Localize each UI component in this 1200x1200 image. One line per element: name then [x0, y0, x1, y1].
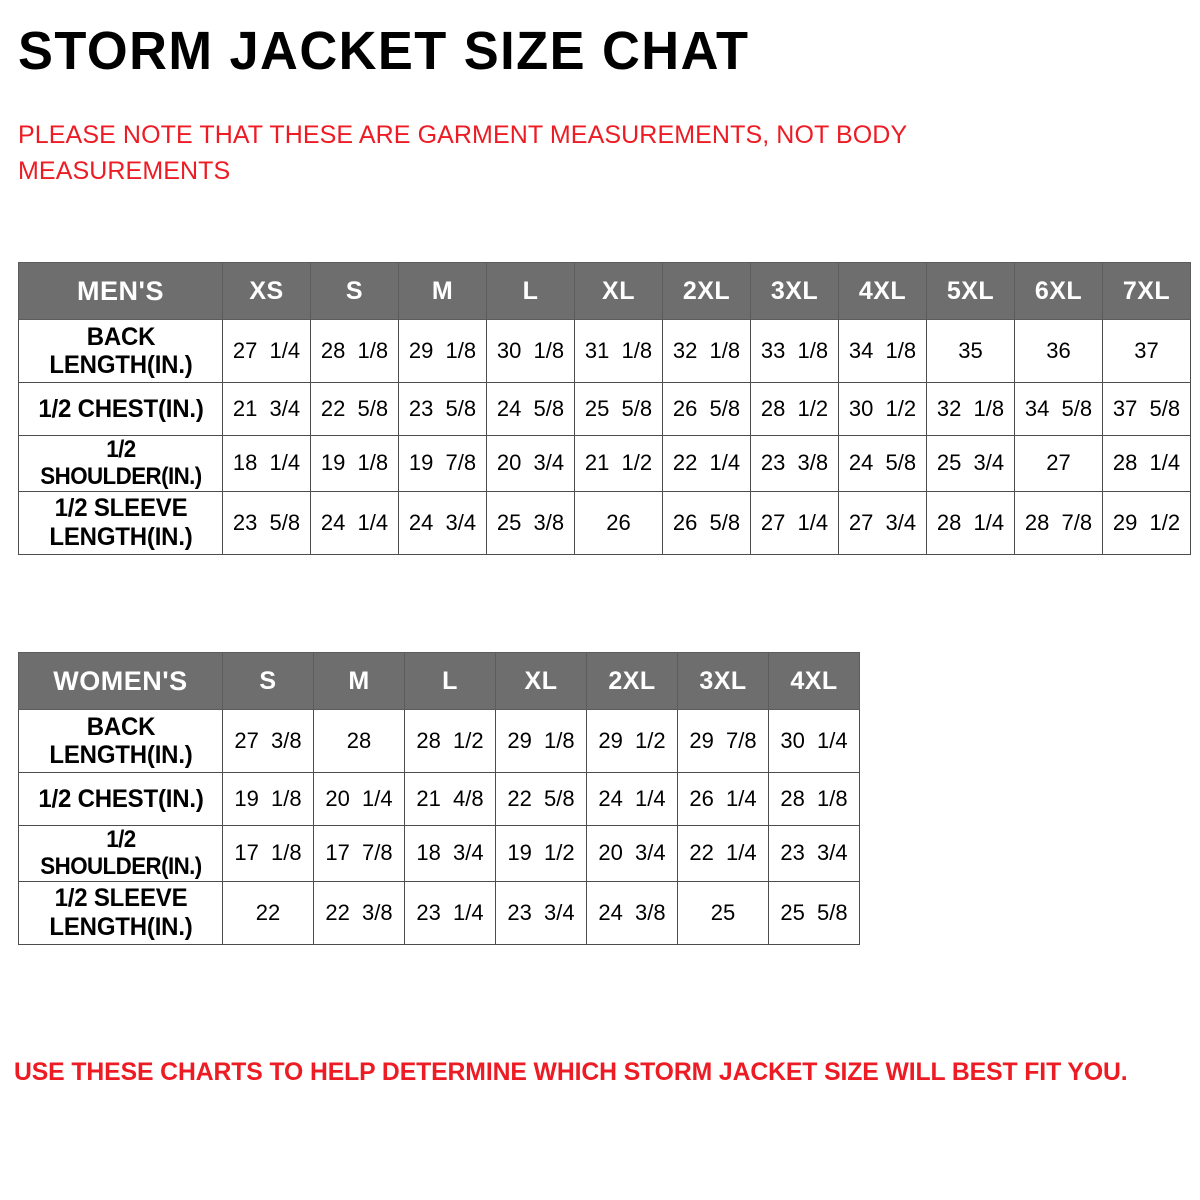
measurement-cell: 28 — [314, 710, 405, 773]
measurement-cell: 22 5/8 — [311, 383, 399, 436]
measurement-cell: 18 1/4 — [223, 436, 311, 492]
measurement-cell: 23 3/4 — [496, 881, 587, 944]
row-label: 1/2 CHEST(IN.) — [23, 383, 219, 436]
measurement-cell: 34 5/8 — [1015, 383, 1103, 436]
table-row: BACKLENGTH(IN.)27 1/428 1/829 1/830 1/83… — [19, 320, 1191, 383]
measurement-cell: 17 1/8 — [223, 826, 314, 882]
mens-table-header: MEN'SXSSMLXL2XL3XL4XL5XL6XL7XL — [19, 263, 1191, 320]
measurement-cell: 32 1/8 — [663, 320, 751, 383]
table-row: 1/2 SHOULDER(IN.)18 1/419 1/819 7/820 3/… — [19, 436, 1191, 492]
mens-size-header-3xl: 3XL — [751, 263, 839, 320]
mens-table-body: BACKLENGTH(IN.)27 1/428 1/829 1/830 1/83… — [19, 320, 1191, 555]
measurement-cell: 27 3/4 — [839, 491, 927, 554]
measurement-cell: 26 5/8 — [663, 383, 751, 436]
womens-header-row: WOMEN'SSMLXL2XL3XL4XL — [19, 653, 860, 710]
womens-size-header-2xl: 2XL — [587, 653, 678, 710]
measurement-cell: 27 3/8 — [223, 710, 314, 773]
measurement-cell: 30 1/2 — [839, 383, 927, 436]
table-row: 1/2 SHOULDER(IN.)17 1/817 7/818 3/419 1/… — [19, 826, 860, 882]
row-label: 1/2 SLEEVELENGTH(IN.) — [23, 491, 219, 554]
measurement-cell: 31 1/8 — [575, 320, 663, 383]
table-row: 1/2 CHEST(IN.)21 3/422 5/823 5/824 5/825… — [19, 383, 1191, 436]
mens-header-row: MEN'SXSSMLXL2XL3XL4XL5XL6XL7XL — [19, 263, 1191, 320]
mens-size-header-xs: XS — [223, 263, 311, 320]
mens-size-header-7xl: 7XL — [1103, 263, 1191, 320]
womens-size-header-3xl: 3XL — [678, 653, 769, 710]
row-label: 1/2 SLEEVELENGTH(IN.) — [23, 881, 219, 944]
measurement-cell: 18 3/4 — [405, 826, 496, 882]
mens-size-table: MEN'SXSSMLXL2XL3XL4XL5XL6XL7XL BACKLENGT… — [18, 262, 1191, 555]
womens-table-body: BACKLENGTH(IN.)27 3/82828 1/229 1/829 1/… — [19, 710, 860, 945]
measurement-cell: 20 1/4 — [314, 773, 405, 826]
measurement-cell: 25 5/8 — [769, 881, 860, 944]
measurement-cell: 22 5/8 — [496, 773, 587, 826]
measurement-cell: 25 — [678, 881, 769, 944]
measurement-cell: 24 3/8 — [587, 881, 678, 944]
garment-measurement-note: PLEASE NOTE THAT THESE ARE GARMENT MEASU… — [18, 118, 978, 189]
measurement-cell: 29 1/2 — [587, 710, 678, 773]
womens-size-header-m: M — [314, 653, 405, 710]
row-label: BACKLENGTH(IN.) — [23, 320, 219, 383]
row-label: 1/2 SHOULDER(IN.) — [26, 436, 216, 492]
measurement-cell: 22 1/4 — [678, 826, 769, 882]
measurement-cell: 17 7/8 — [314, 826, 405, 882]
measurement-cell: 28 1/4 — [927, 491, 1015, 554]
measurement-cell: 19 1/2 — [496, 826, 587, 882]
row-label: BACKLENGTH(IN.) — [23, 710, 219, 773]
measurement-cell: 27 — [1015, 436, 1103, 492]
measurement-cell: 29 1/8 — [496, 710, 587, 773]
measurement-cell: 25 3/8 — [487, 491, 575, 554]
womens-size-header-xl: XL — [496, 653, 587, 710]
measurement-cell: 36 — [1015, 320, 1103, 383]
table-row: BACKLENGTH(IN.)27 3/82828 1/229 1/829 1/… — [19, 710, 860, 773]
measurement-cell: 33 1/8 — [751, 320, 839, 383]
measurement-cell: 25 3/4 — [927, 436, 1015, 492]
table-row: 1/2 CHEST(IN.)19 1/820 1/421 4/822 5/824… — [19, 773, 860, 826]
measurement-cell: 29 7/8 — [678, 710, 769, 773]
measurement-cell: 21 3/4 — [223, 383, 311, 436]
measurement-cell: 22 1/4 — [663, 436, 751, 492]
measurement-cell: 19 1/8 — [223, 773, 314, 826]
measurement-cell: 37 5/8 — [1103, 383, 1191, 436]
womens-size-header-4xl: 4XL — [769, 653, 860, 710]
measurement-cell: 30 1/8 — [487, 320, 575, 383]
mens-size-header-5xl: 5XL — [927, 263, 1015, 320]
measurement-cell: 24 3/4 — [399, 491, 487, 554]
measurement-cell: 28 1/2 — [751, 383, 839, 436]
measurement-cell: 29 1/2 — [1103, 491, 1191, 554]
mens-size-header-l: L — [487, 263, 575, 320]
measurement-cell: 19 1/8 — [311, 436, 399, 492]
measurement-cell: 25 5/8 — [575, 383, 663, 436]
measurement-cell: 23 3/8 — [751, 436, 839, 492]
measurement-cell: 37 — [1103, 320, 1191, 383]
table-row: 1/2 SLEEVELENGTH(IN.)2222 3/823 1/423 3/… — [19, 881, 860, 944]
measurement-cell: 35 — [927, 320, 1015, 383]
measurement-cell: 19 7/8 — [399, 436, 487, 492]
womens-size-table: WOMEN'SSMLXL2XL3XL4XL BACKLENGTH(IN.)27 … — [18, 652, 860, 945]
measurement-cell: 26 5/8 — [663, 491, 751, 554]
measurement-cell: 22 — [223, 881, 314, 944]
womens-size-header-s: S — [223, 653, 314, 710]
mens-corner-header: MEN'S — [19, 263, 223, 320]
measurement-cell: 29 1/8 — [399, 320, 487, 383]
measurement-cell: 21 4/8 — [405, 773, 496, 826]
measurement-cell: 23 5/8 — [399, 383, 487, 436]
measurement-cell: 30 1/4 — [769, 710, 860, 773]
womens-size-header-l: L — [405, 653, 496, 710]
measurement-cell: 32 1/8 — [927, 383, 1015, 436]
mens-size-header-s: S — [311, 263, 399, 320]
mens-size-header-xl: XL — [575, 263, 663, 320]
measurement-cell: 28 1/8 — [311, 320, 399, 383]
mens-size-header-m: M — [399, 263, 487, 320]
size-chart-page: STORM JACKET SIZE CHAT PLEASE NOTE THAT … — [0, 0, 1200, 1200]
mens-size-header-6xl: 6XL — [1015, 263, 1103, 320]
measurement-cell: 24 5/8 — [487, 383, 575, 436]
page-title: STORM JACKET SIZE CHAT — [18, 24, 749, 78]
measurement-cell: 24 1/4 — [311, 491, 399, 554]
measurement-cell: 28 1/8 — [769, 773, 860, 826]
mens-size-header-4xl: 4XL — [839, 263, 927, 320]
table-row: 1/2 SLEEVELENGTH(IN.)23 5/824 1/424 3/42… — [19, 491, 1191, 554]
measurement-cell: 23 5/8 — [223, 491, 311, 554]
measurement-cell: 26 — [575, 491, 663, 554]
measurement-cell: 27 1/4 — [751, 491, 839, 554]
measurement-cell: 24 1/4 — [587, 773, 678, 826]
measurement-cell: 24 5/8 — [839, 436, 927, 492]
measurement-cell: 21 1/2 — [575, 436, 663, 492]
row-label: 1/2 SHOULDER(IN.) — [26, 826, 216, 882]
measurement-cell: 20 3/4 — [487, 436, 575, 492]
measurement-cell: 22 3/8 — [314, 881, 405, 944]
measurement-cell: 23 3/4 — [769, 826, 860, 882]
measurement-cell: 20 3/4 — [587, 826, 678, 882]
womens-corner-header: WOMEN'S — [19, 653, 223, 710]
measurement-cell: 23 1/4 — [405, 881, 496, 944]
measurement-cell: 27 1/4 — [223, 320, 311, 383]
measurement-cell: 26 1/4 — [678, 773, 769, 826]
measurement-cell: 34 1/8 — [839, 320, 927, 383]
mens-size-header-2xl: 2XL — [663, 263, 751, 320]
measurement-cell: 28 1/4 — [1103, 436, 1191, 492]
measurement-cell: 28 7/8 — [1015, 491, 1103, 554]
row-label: 1/2 CHEST(IN.) — [23, 773, 219, 826]
measurement-cell: 28 1/2 — [405, 710, 496, 773]
help-determine-size-note: USE THESE CHARTS TO HELP DETERMINE WHICH… — [14, 1058, 1172, 1087]
womens-table-header: WOMEN'SSMLXL2XL3XL4XL — [19, 653, 860, 710]
